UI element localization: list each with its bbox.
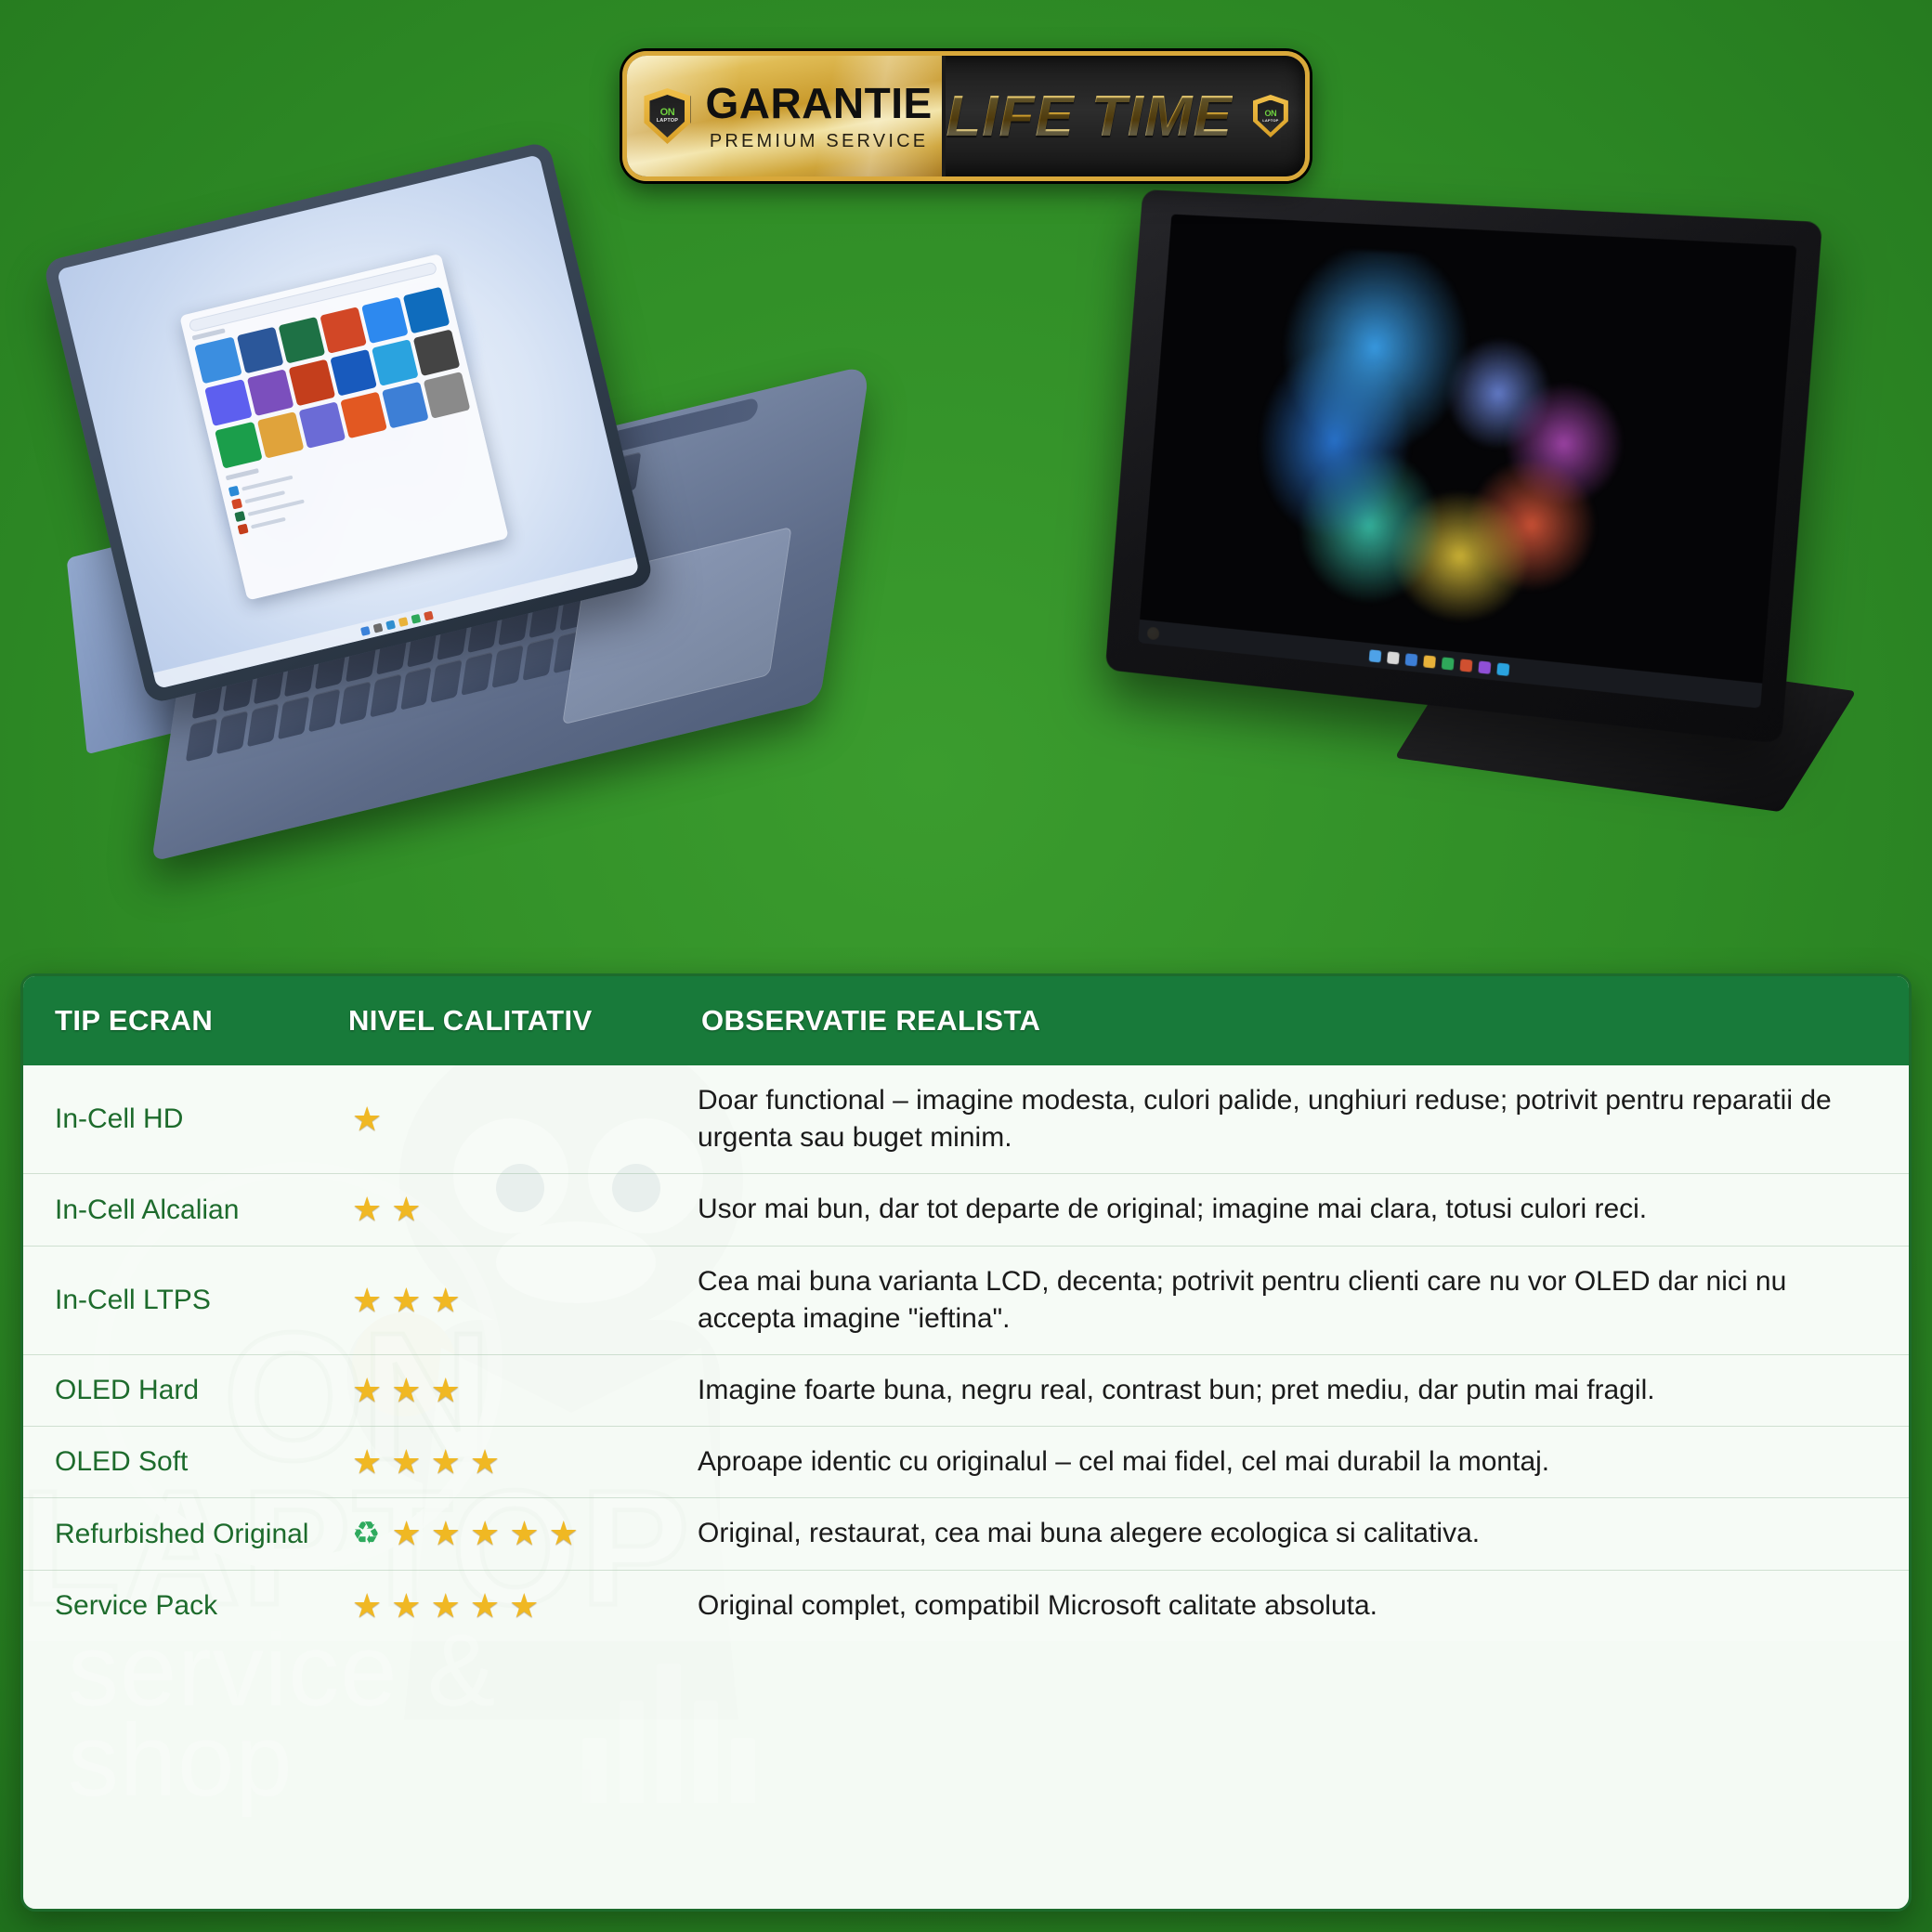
column-header-type: TIP ECRAN xyxy=(23,976,330,1065)
screen-right xyxy=(1138,215,1796,709)
shield-sub-text: LAPTOP xyxy=(657,119,678,124)
table-header: TIP ECRAN NIVEL CALITATIV OBSERVATIE REA… xyxy=(23,976,1909,1065)
star-icon: ★ xyxy=(431,1284,461,1317)
star-icon: ★ xyxy=(431,1517,461,1550)
cell-quality-rating: ★★★★★ xyxy=(330,1570,683,1641)
table-row: In-Cell Alcalian★★Usor mai bun, dar tot … xyxy=(23,1174,1909,1246)
logo-bars-icon xyxy=(582,1664,755,1803)
table-row: Refurbished Original♻★★★★★Original, rest… xyxy=(23,1498,1909,1570)
cell-quality-rating: ★★★★ xyxy=(330,1427,683,1498)
cell-screen-type: Service Pack xyxy=(23,1570,330,1641)
screen-quality-table: TIP ECRAN NIVEL CALITATIV OBSERVATIE REA… xyxy=(23,976,1909,1641)
badge-frame: ON LAPTOP GARANTIE PREMIUM SERVICE LIFE … xyxy=(622,51,1310,181)
table-row: OLED Soft★★★★Aproape identic cu original… xyxy=(23,1427,1909,1498)
shield-small-brand-text: ON xyxy=(1265,110,1277,118)
surface-pro-black-photo xyxy=(1105,204,1848,799)
cell-screen-type: Refurbished Original xyxy=(23,1498,330,1570)
star-icon: ★ xyxy=(391,1193,421,1226)
shield-icon: ON LAPTOP xyxy=(644,88,690,144)
star-icon: ★ xyxy=(470,1589,500,1623)
table-row: In-Cell LTPS★★★Cea mai buna varianta LCD… xyxy=(23,1246,1909,1354)
star-icon: ★ xyxy=(391,1374,421,1407)
star-icon: ★ xyxy=(431,1445,461,1479)
cell-quality-rating: ★★ xyxy=(330,1174,683,1246)
shield-small-sub-text: LAPTOP xyxy=(1262,119,1278,123)
cell-observation: Doar functional – imagine modesta, culor… xyxy=(683,1065,1909,1174)
product-photos xyxy=(0,167,1932,985)
warranty-badge: ON LAPTOP GARANTIE PREMIUM SERVICE LIFE … xyxy=(622,51,1310,181)
star-icon: ★ xyxy=(352,1103,382,1136)
star-icon: ★ xyxy=(470,1445,500,1479)
cell-screen-type: OLED Hard xyxy=(23,1354,330,1426)
surface-tablet-right xyxy=(1105,189,1822,744)
star-icon: ★ xyxy=(352,1284,382,1317)
star-icon: ★ xyxy=(391,1445,421,1479)
star-icon: ★ xyxy=(391,1517,421,1550)
table-row: In-Cell HD★Doar functional – imagine mod… xyxy=(23,1065,1909,1174)
star-icon: ★ xyxy=(352,1445,382,1479)
cell-quality-rating: ♻★★★★★ xyxy=(330,1498,683,1570)
badge-gold-panel: ON LAPTOP GARANTIE PREMIUM SERVICE xyxy=(627,56,946,176)
star-icon: ★ xyxy=(391,1284,421,1317)
badge-dark-panel: LIFE TIME ON LAPTOP xyxy=(946,56,1305,176)
badge-lifetime-label: LIFE TIME xyxy=(946,84,1233,150)
star-icon: ★ xyxy=(431,1374,461,1407)
cell-quality-rating: ★★★ xyxy=(330,1246,683,1354)
badge-garantie-label: GARANTIE xyxy=(705,82,932,124)
shield-icon-small: ON LAPTOP xyxy=(1253,95,1288,137)
star-icon: ★ xyxy=(352,1193,382,1226)
cell-screen-type: In-Cell LTPS xyxy=(23,1246,330,1354)
cell-observation: Cea mai buna varianta LCD, decenta; potr… xyxy=(683,1246,1909,1354)
screen-quality-table-panel: ON LAPTOP service & shop TIP ECRAN NIVEL… xyxy=(20,973,1912,1912)
cell-screen-type: In-Cell HD xyxy=(23,1065,330,1174)
table-body: In-Cell HD★Doar functional – imagine mod… xyxy=(23,1065,1909,1641)
surface-pro-with-keyboard-photo xyxy=(56,176,985,957)
star-icon: ★ xyxy=(431,1589,461,1623)
cell-observation: Imagine foarte buna, negru real, contras… xyxy=(683,1354,1909,1426)
cell-observation: Original, restaurat, cea mai buna aleger… xyxy=(683,1498,1909,1570)
star-icon: ★ xyxy=(352,1589,382,1623)
star-icon: ★ xyxy=(509,1517,539,1550)
star-icon: ★ xyxy=(391,1589,421,1623)
cell-screen-type: OLED Soft xyxy=(23,1427,330,1498)
column-header-note: OBSERVATIE REALISTA xyxy=(683,976,1909,1065)
cell-observation: Original complet, compatibil Microsoft c… xyxy=(683,1570,1909,1641)
table-row: OLED Hard★★★Imagine foarte buna, negru r… xyxy=(23,1354,1909,1426)
star-icon: ★ xyxy=(352,1374,382,1407)
recycle-icon: ♻ xyxy=(352,1518,380,1549)
cell-quality-rating: ★★★ xyxy=(330,1354,683,1426)
star-icon: ★ xyxy=(509,1589,539,1623)
shield-brand-text: ON xyxy=(660,108,675,118)
cell-observation: Usor mai bun, dar tot departe de origina… xyxy=(683,1174,1909,1246)
taskbar-right xyxy=(1138,620,1762,709)
column-header-quality: NIVEL CALITATIV xyxy=(330,976,683,1065)
watermark-brand-line3: service & shop xyxy=(68,1626,644,1807)
star-icon: ★ xyxy=(549,1517,579,1550)
cell-screen-type: In-Cell Alcalian xyxy=(23,1174,330,1246)
badge-premium-label: PREMIUM SERVICE xyxy=(710,132,928,150)
star-icon: ★ xyxy=(470,1517,500,1550)
cell-quality-rating: ★ xyxy=(330,1065,683,1174)
cell-observation: Aproape identic cu originalul – cel mai … xyxy=(683,1427,1909,1498)
table-row: Service Pack★★★★★Original complet, compa… xyxy=(23,1570,1909,1641)
rainbow-ribbon-wallpaper xyxy=(1223,244,1676,650)
